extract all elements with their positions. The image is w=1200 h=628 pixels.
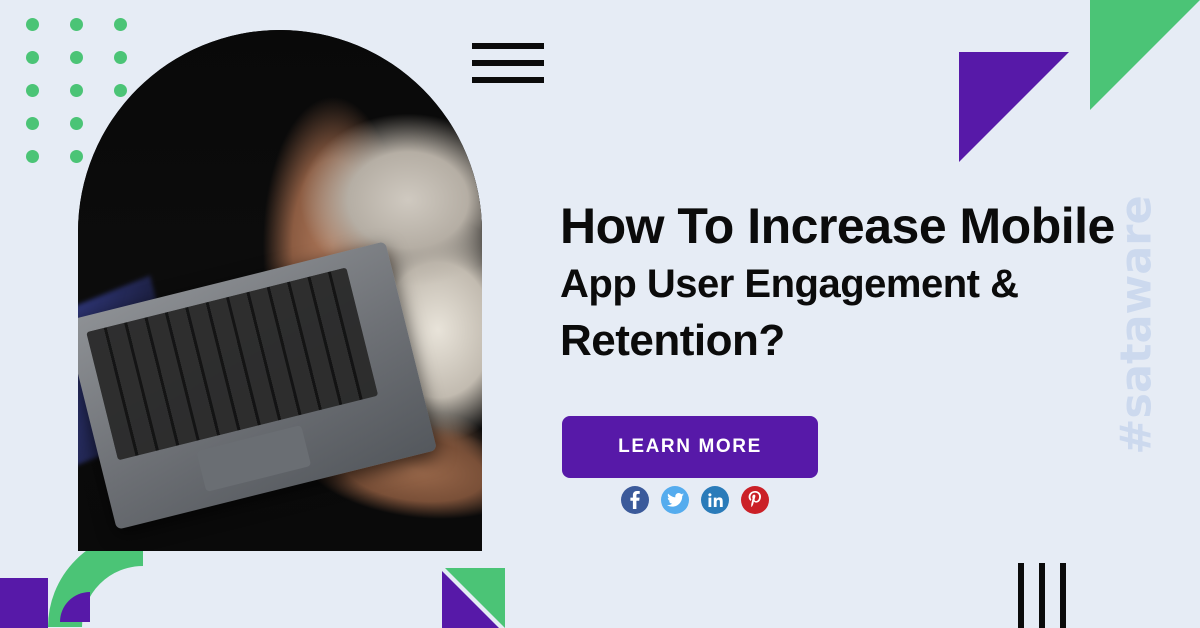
- brand-watermark: #sataware: [1111, 195, 1161, 454]
- vertical-bar: [1039, 563, 1045, 628]
- learn-more-button[interactable]: LEARN MORE: [562, 416, 818, 478]
- social-links: [621, 486, 769, 514]
- dot: [26, 51, 39, 64]
- headline-line-1: How To Increase Mobile: [560, 196, 1200, 256]
- menu-bar: [472, 77, 544, 83]
- decorative-purple-square: [0, 578, 48, 628]
- hero-image: [78, 30, 482, 551]
- headline-block: How To Increase Mobile App User Engageme…: [560, 196, 1200, 370]
- decorative-purple-triangle: [959, 52, 1069, 162]
- vertical-bar: [1018, 563, 1024, 628]
- dot: [26, 117, 39, 130]
- decorative-split-square: [445, 568, 505, 628]
- pinterest-icon[interactable]: [741, 486, 769, 514]
- headline-line-3: Retention?: [560, 312, 1200, 370]
- twitter-icon[interactable]: [661, 486, 689, 514]
- menu-bar: [472, 60, 544, 66]
- hamburger-menu-icon[interactable]: [472, 43, 544, 83]
- dot: [26, 84, 39, 97]
- headline-line-2: App User Engagement &: [560, 256, 1200, 312]
- decorative-green-triangle: [1090, 0, 1200, 110]
- linkedin-icon[interactable]: [701, 486, 729, 514]
- dot: [26, 150, 39, 163]
- vertical-bar: [1060, 563, 1066, 628]
- dot: [26, 18, 39, 31]
- decorative-vertical-bars: [1018, 563, 1066, 628]
- facebook-icon[interactable]: [621, 486, 649, 514]
- promo-banner: How To Increase Mobile App User Engageme…: [0, 0, 1200, 628]
- menu-bar: [472, 43, 544, 49]
